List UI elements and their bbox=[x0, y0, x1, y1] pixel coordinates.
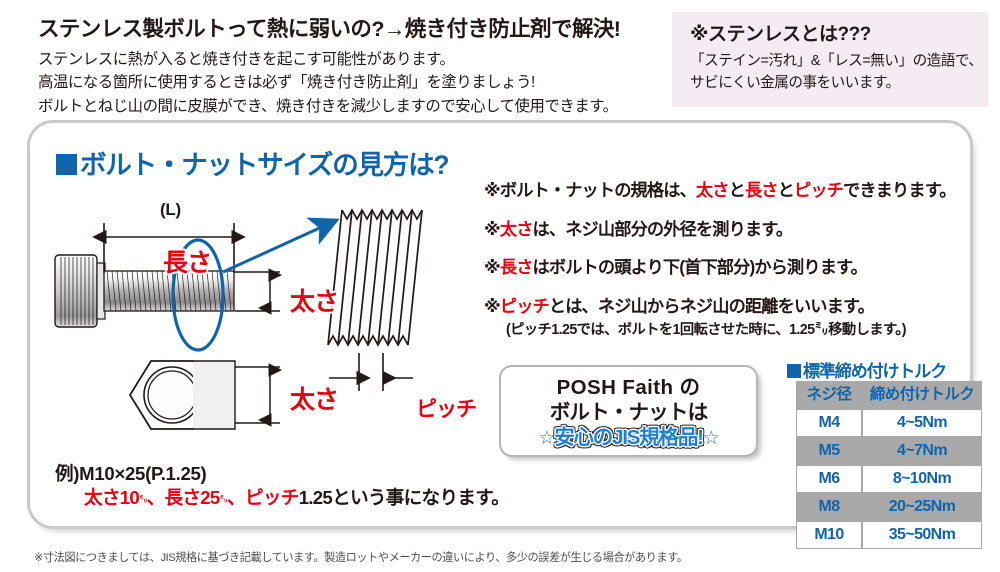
stainless-definition-line: サビにくい金属の事をいいます。 bbox=[690, 73, 972, 95]
table-header-cell: 締め付けトルク bbox=[862, 381, 982, 409]
table-cell-torque: 4~7Nm bbox=[862, 437, 982, 465]
posh-badge-line3: ☆安心のJIS規格品!☆ bbox=[501, 425, 756, 450]
text-run: 長さ bbox=[745, 180, 778, 200]
label-length: 長さ bbox=[163, 243, 211, 279]
posh-badge-jis-text: 安心のJIS規格品! bbox=[554, 426, 703, 449]
intro-line: ボルトとねじ山の間に皮膜ができ、焼き付きを減少しますので安心して使用できます。 bbox=[38, 95, 678, 118]
text-run: ピッチ bbox=[500, 296, 549, 316]
panel-heading-label: ボルト・ナットサイズの見方は? bbox=[80, 150, 448, 180]
table-cell-torque: 4~5Nm bbox=[862, 409, 982, 437]
spec-bullet-note: (ピッチ1.25では、ボルトを1回転させた時に、1.25㍉移動します。) bbox=[506, 323, 984, 337]
star-icon: ☆ bbox=[703, 428, 719, 449]
table-cell-torque: 35~50Nm bbox=[862, 521, 982, 549]
text-run: とは、ネジ山からネジ山の距離をいいます。 bbox=[549, 296, 874, 316]
spec-bullet-list: ※ボルト・ナットの規格は、太さと長さとピッチできまります。 ※太さは、ネジ山部分… bbox=[484, 182, 984, 359]
panel-heading: ボルト・ナットサイズの見方は? bbox=[56, 143, 448, 182]
table-cell-size: M4 bbox=[796, 409, 862, 437]
blue-square-bullet-icon bbox=[787, 364, 801, 378]
text-run: と bbox=[778, 180, 794, 200]
table-row: M6 8~10Nm bbox=[796, 465, 982, 493]
bolt-head-graphic bbox=[55, 255, 105, 327]
text-run: ㍉ bbox=[139, 494, 147, 504]
example-block: 例)M10×25(P.1.25) 太さ10㍉、長さ25㍉、ピッチ1.25という事… bbox=[55, 462, 525, 510]
star-icon: ☆ bbox=[538, 428, 554, 449]
table-cell-torque: 20~25Nm bbox=[862, 493, 982, 521]
table-row: M5 4~7Nm bbox=[796, 437, 982, 465]
stainless-definition-box: ※ステンレスとは??? 「ステイン=汚れ」&「レス=無い」の造語で、 サビにくい… bbox=[672, 12, 988, 107]
text-run: ※ bbox=[484, 257, 500, 277]
text-run: 太さ bbox=[696, 180, 729, 200]
intro-line: 高温になる箇所に使用するときは必ず「焼き付き防止剤」を塗りましょう! bbox=[38, 71, 678, 94]
example-line1: 例)M10×25(P.1.25) bbox=[55, 462, 525, 486]
text-run: ※ bbox=[484, 219, 500, 239]
text-run: (ピッチ1.25では、ボルトを1回転させた時に、1.25㍉移動します。) bbox=[506, 322, 906, 338]
intro-block: ステンレス製ボルトって熱に弱いの?→焼き付き防止剤で解決! ステンレスに熱が入る… bbox=[38, 16, 678, 118]
text-run: 太さ10 bbox=[84, 487, 139, 508]
bolt-nut-dimension-diagram: (L) 長さ 太さ 太さ ピッチ bbox=[45, 195, 505, 465]
text-run: と bbox=[729, 180, 745, 200]
posh-faith-badge: POSH Faith の ボルト・ナットは ☆安心のJIS規格品!☆ bbox=[499, 365, 758, 457]
infographic-page: ステンレス製ボルトって熱に弱いの?→焼き付き防止剤で解決! ステンレスに熱が入る… bbox=[0, 0, 1000, 572]
table-header-cell: ネジ径 bbox=[796, 381, 862, 409]
intro-title: ステンレス製ボルトって熱に弱いの?→焼き付き防止剤で解決! bbox=[38, 16, 678, 43]
text-run: 、 bbox=[147, 487, 165, 508]
torque-table-body: M4 4~5Nm M5 4~7Nm M6 8~10Nm M8 20~25Nm M… bbox=[796, 409, 982, 549]
text-run: 、 bbox=[227, 487, 245, 508]
callout-arrow bbox=[223, 220, 337, 272]
table-cell-size: M6 bbox=[796, 465, 862, 493]
intro-line: ステンレスに熱が入ると焼き付きを起こす可能性があります。 bbox=[38, 48, 678, 71]
text-run: 長さ25 bbox=[165, 487, 220, 508]
torque-table: ネジ径 締め付けトルク M4 4~5Nm M5 4~7Nm M6 8~10Nm … bbox=[796, 381, 982, 549]
text-run: 1.25という事になります。 bbox=[299, 487, 509, 508]
table-header-row: ネジ径 締め付けトルク bbox=[796, 381, 982, 409]
pitch-dimension bbox=[329, 353, 413, 391]
table-cell-torque: 8~10Nm bbox=[862, 465, 982, 493]
posh-badge-line1: POSH Faith の bbox=[501, 375, 756, 400]
stainless-definition-title: ※ステンレスとは??? bbox=[690, 24, 972, 47]
thread-closeup-graphic bbox=[328, 210, 422, 345]
spec-bullet: ※ピッチとは、ネジ山からネジ山の距離をいいます。 bbox=[484, 298, 984, 315]
text-run: ※ボルト・ナットの規格は、 bbox=[484, 180, 696, 200]
table-cell-size: M10 bbox=[796, 521, 862, 549]
spec-bullet: ※太さは、ネジ山部分の外径を測ります。 bbox=[484, 221, 984, 238]
table-cell-size: M5 bbox=[796, 437, 862, 465]
diagram-svg bbox=[45, 195, 505, 465]
text-run: ピッチ bbox=[794, 180, 843, 200]
stainless-definition-body: 「ステイン=汚れ」&「レス=無い」の造語で、 サビにくい金属の事をいいます。 bbox=[690, 51, 972, 95]
table-row: M10 35~50Nm bbox=[796, 521, 982, 549]
intro-paragraph: ステンレスに熱が入ると焼き付きを起こす可能性があります。 高温になる箇所に使用す… bbox=[38, 48, 678, 118]
table-row: M8 20~25Nm bbox=[796, 493, 982, 521]
table-cell-size: M8 bbox=[796, 493, 862, 521]
spec-bullet: ※ボルト・ナットの規格は、太さと長さとピッチできまります。 bbox=[484, 182, 984, 199]
text-run: ※ bbox=[484, 296, 500, 316]
text-run: ピッチ bbox=[245, 487, 299, 508]
bolt-diameter-dimension bbox=[235, 272, 280, 311]
label-pitch: ピッチ bbox=[416, 393, 476, 423]
spec-bullet: ※長さはボルトの頭より下(首下部分)から測ります。 bbox=[484, 259, 984, 276]
text-run: できまります。 bbox=[843, 180, 956, 200]
example-line2: 太さ10㍉、長さ25㍉、ピッチ1.25という事になります。 bbox=[84, 486, 525, 510]
nut-graphic bbox=[130, 361, 235, 429]
label-bolt-diameter: 太さ bbox=[290, 282, 338, 318]
text-run: はボルトの頭より下(首下部分)から測ります。 bbox=[533, 257, 867, 277]
table-row: M4 4~5Nm bbox=[796, 409, 982, 437]
text-run: は、ネジ山部分の外径を測ります。 bbox=[533, 219, 793, 239]
torque-table-title: 標準締め付けトルク bbox=[787, 357, 946, 382]
label-nut-diameter: 太さ bbox=[290, 380, 338, 416]
blue-square-bullet-icon bbox=[56, 154, 77, 175]
footer-note: ※寸法図につきましては、JIS規格に基づき記載しています。製造ロットやメーカーの… bbox=[34, 549, 687, 565]
stainless-definition-line: 「ステイン=汚れ」&「レス=無い」の造語で、 bbox=[690, 51, 972, 73]
text-run: ㍉ bbox=[220, 494, 228, 504]
posh-badge-line2: ボルト・ナットは bbox=[501, 400, 756, 425]
torque-table-title-label: 標準締め付けトルク bbox=[803, 362, 946, 381]
text-run: 太さ bbox=[500, 219, 533, 239]
label-L: (L) bbox=[160, 200, 181, 220]
text-run: 長さ bbox=[500, 257, 533, 277]
nut-diameter-dimension bbox=[235, 367, 280, 423]
